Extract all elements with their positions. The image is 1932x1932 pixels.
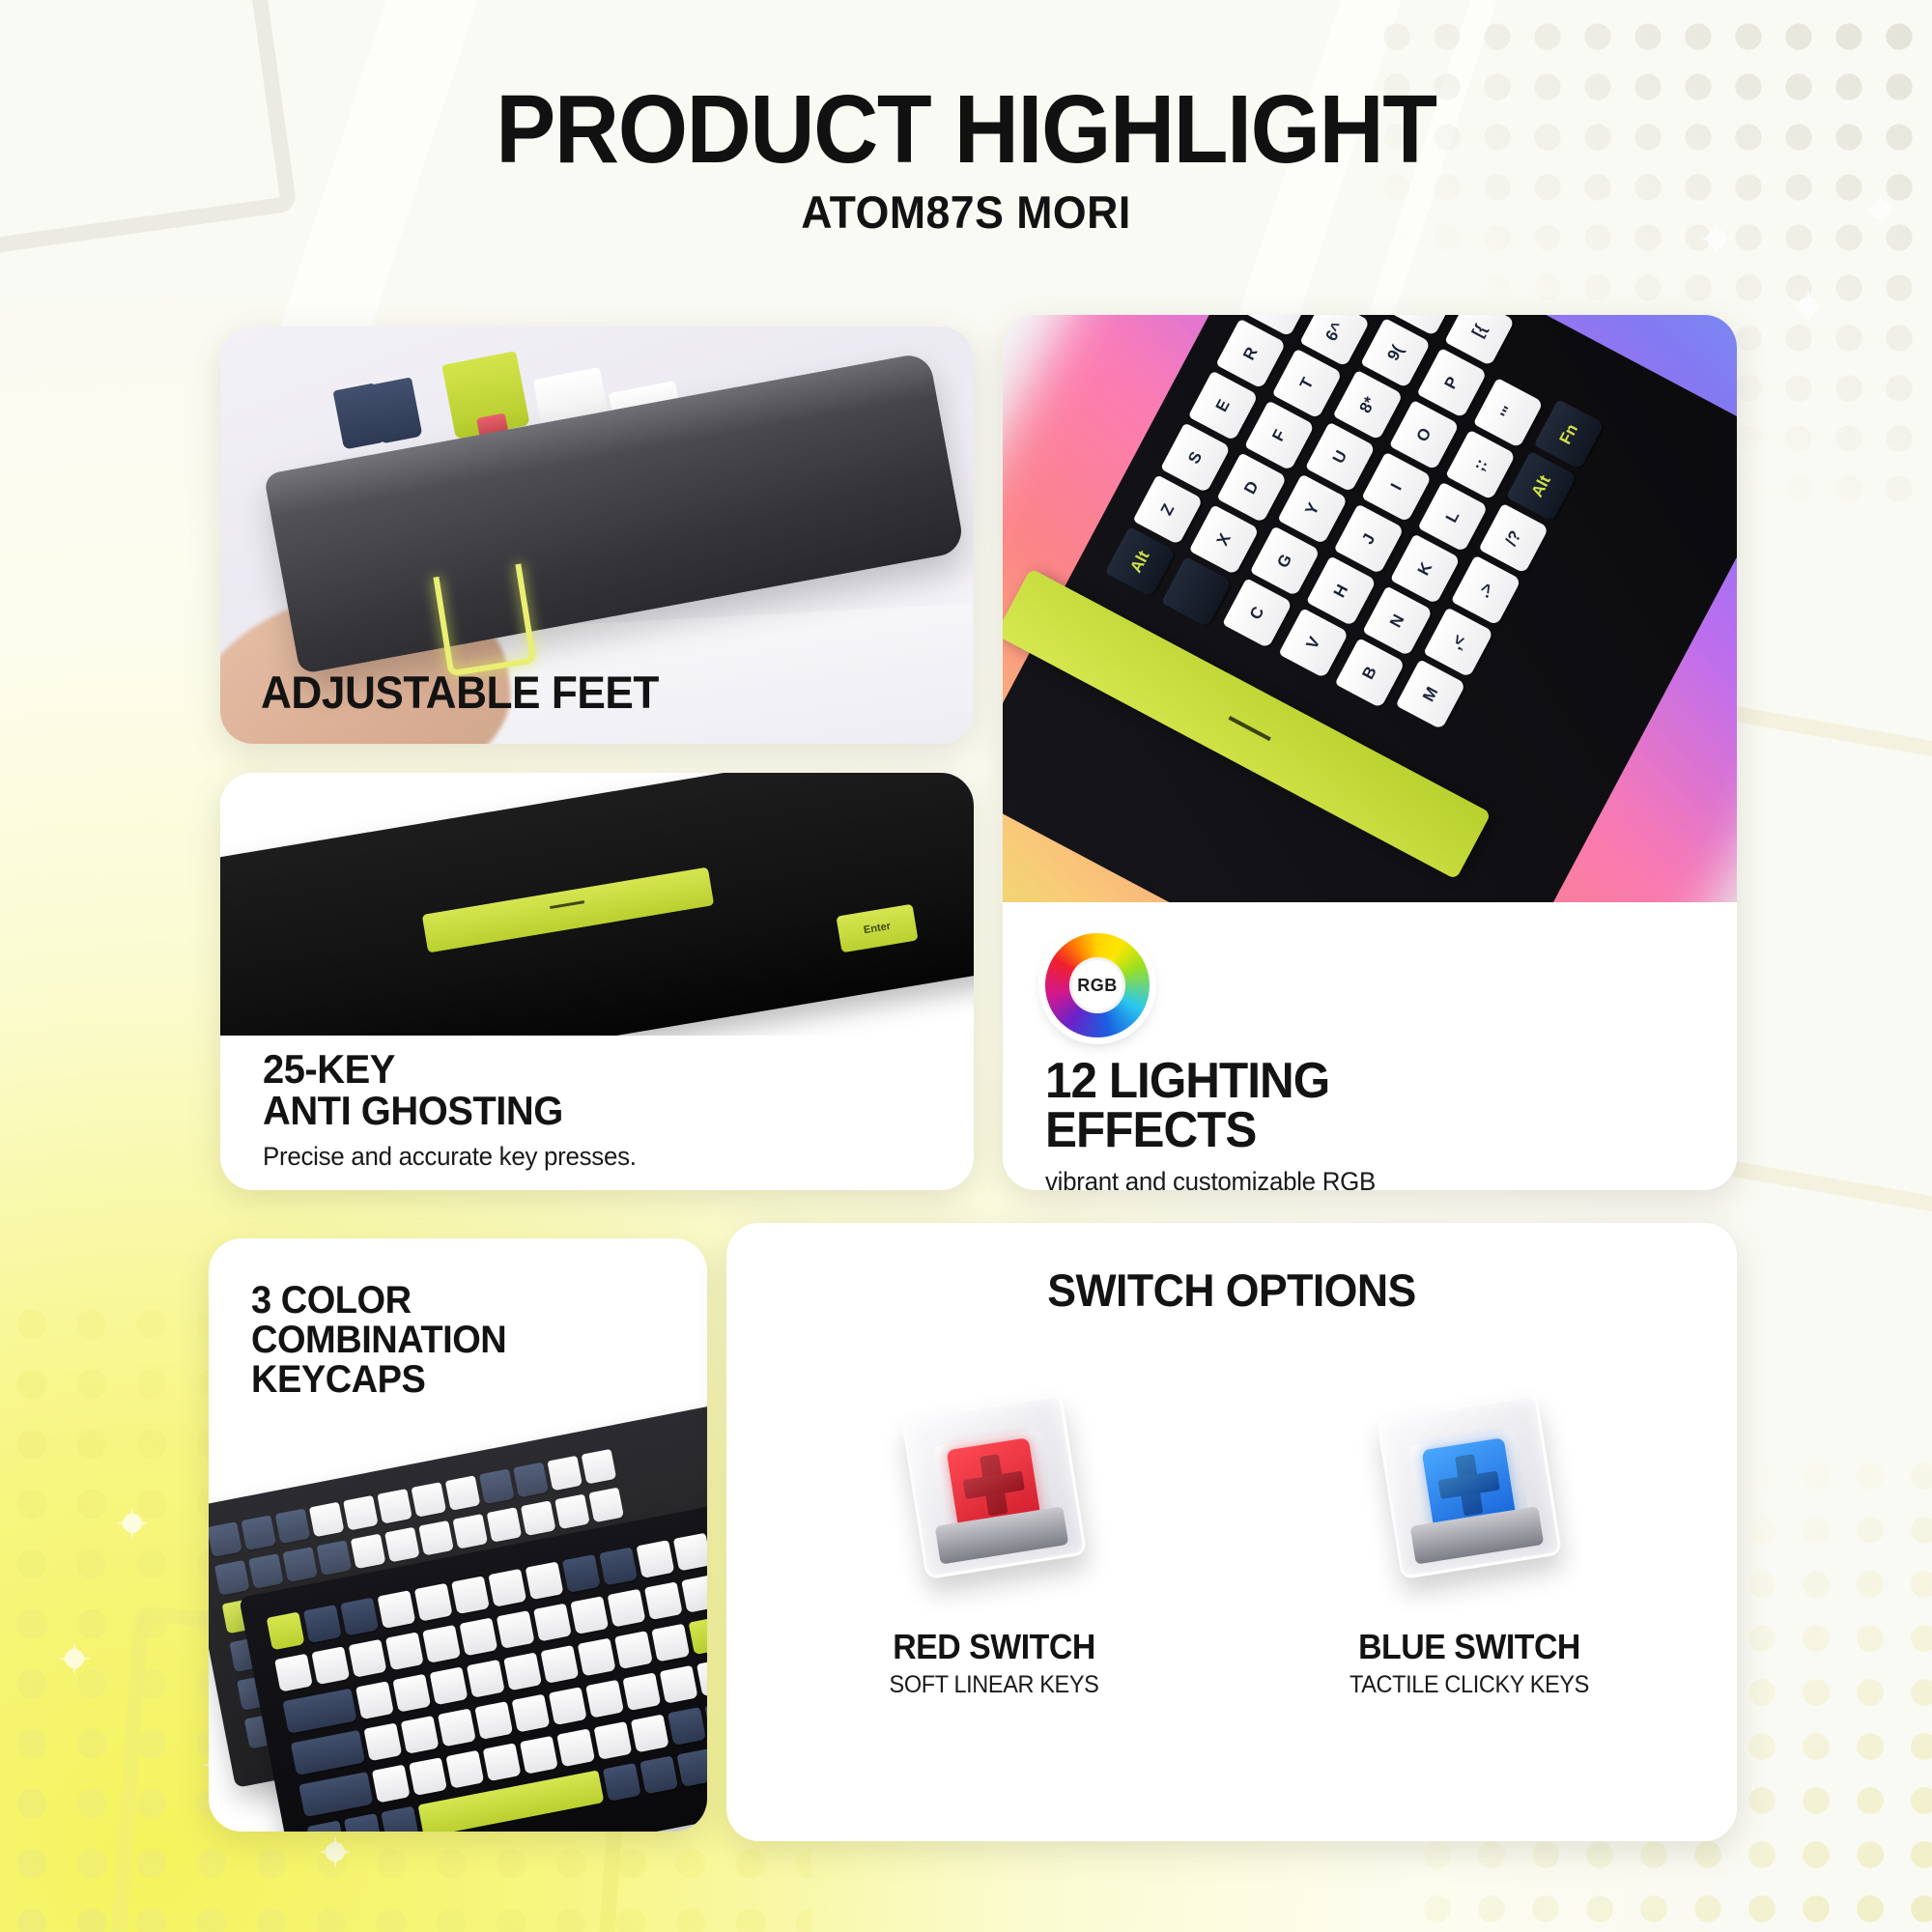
- switch-base-plate: [1410, 1506, 1545, 1564]
- red-switch-image: [849, 1347, 1139, 1627]
- heading-line-2: EFFECTS: [1045, 1106, 1372, 1155]
- lighting-effects-text: 12 LIGHTING EFFECTS vibrant and customiz…: [1045, 1057, 1389, 1190]
- switch-base-plate: [935, 1506, 1069, 1564]
- switch-housing: [901, 1394, 1087, 1579]
- heading-line-2: ANTI GHOSTING: [263, 1091, 633, 1132]
- card-caption: ADJUSTABLE FEET: [261, 666, 659, 719]
- page-subtitle: ATOM87S MORI: [48, 185, 1884, 239]
- description: vibrant and customizable RGB: [1045, 1167, 1376, 1190]
- heading-line-1: 12 LIGHTING: [1045, 1057, 1372, 1106]
- keycaps-text: 3 COLOR COMBINATION KEYCAPS: [251, 1281, 520, 1399]
- card-color-keycaps[interactable]: 3 COLOR COMBINATION KEYCAPS: [209, 1238, 707, 1832]
- blue-switch-image: [1324, 1347, 1614, 1627]
- heading-line-2: COMBINATION: [251, 1321, 506, 1360]
- rgb-keyboard: Alt Z S E R 5% F5 F6 X D F T 6^ 7*: [1003, 315, 1737, 902]
- switch-options-title: SWITCH OPTIONS: [752, 1264, 1712, 1317]
- rgb-badge-icon: RGB: [1045, 933, 1150, 1037]
- heading-line-3: KEYCAPS: [251, 1360, 506, 1400]
- switch-subtitle: SOFT LINEAR KEYS: [858, 1671, 1130, 1699]
- switch-name: BLUE SWITCH: [1333, 1627, 1605, 1667]
- anti-ghosting-text: 25-KEY ANTI GHOSTING Precise and accurat…: [263, 1049, 652, 1172]
- card-anti-ghosting[interactable]: Enter 25-KEY ANTI GHOSTING Precise and a…: [220, 773, 974, 1190]
- anti-ghosting-photo: Enter: [220, 773, 974, 1036]
- switch-option-blue[interactable]: BLUE SWITCH TACTILE CLICKY KEYS: [1324, 1347, 1614, 1699]
- switch-name: RED SWITCH: [858, 1627, 1130, 1667]
- card-adjustable-feet[interactable]: ADJUSTABLE FEET: [220, 327, 974, 744]
- rgb-keyboard-photo: Alt Z S E R 5% F5 F6 X D F T 6^ 7*: [1003, 315, 1737, 902]
- adjustable-foot-highlight: [433, 563, 536, 676]
- card-switch-options[interactable]: SWITCH OPTIONS RED SWITCH SOFT LINEAR KE…: [726, 1223, 1737, 1841]
- switch-option-red[interactable]: RED SWITCH SOFT LINEAR KEYS: [849, 1347, 1139, 1699]
- keycaps-photo: [209, 1432, 707, 1832]
- description: Precise and accurate key presses.: [263, 1142, 637, 1172]
- page-title: PRODUCT HIGHLIGHT: [68, 83, 1864, 176]
- switch-subtitle: TACTILE CLICKY KEYS: [1333, 1671, 1605, 1699]
- rgb-badge-label: RGB: [1069, 957, 1125, 1013]
- feature-card-grid: ADJUSTABLE FEET Enter 25-KEY ANTI GHOSTI…: [0, 0, 1932, 1932]
- heading-line-1: 25-KEY: [263, 1049, 633, 1091]
- heading-line-1: 3 COLOR: [251, 1281, 506, 1321]
- card-lighting-effects[interactable]: Alt Z S E R 5% F5 F6 X D F T 6^ 7*: [1003, 315, 1737, 1190]
- page-header: PRODUCT HIGHLIGHT ATOM87S MORI: [0, 83, 1932, 239]
- switch-options-list: RED SWITCH SOFT LINEAR KEYS BLUE SWITCH …: [726, 1347, 1737, 1699]
- switch-housing: [1377, 1394, 1562, 1579]
